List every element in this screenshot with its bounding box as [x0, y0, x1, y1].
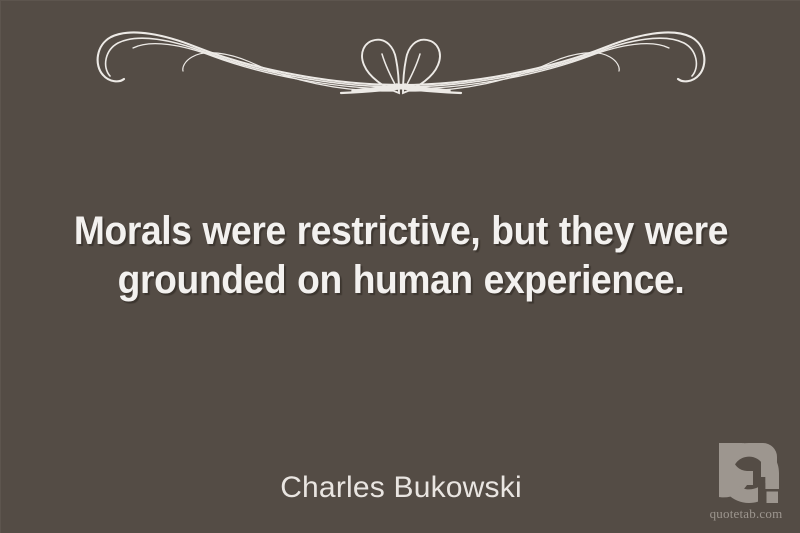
author-block: Charles Bukowski [1, 469, 800, 507]
site-logo[interactable]: quotetab.com [704, 443, 788, 525]
quote-card: Morals were restrictive, but they were g… [0, 0, 800, 533]
quote-block: Morals were restrictive, but they were g… [1, 207, 800, 305]
decorative-flourish-icon [1, 9, 800, 99]
quote-text: Morals were restrictive, but they were g… [61, 207, 742, 305]
quotetab-q-icon [719, 443, 781, 503]
logo-wordmark: quotetab.com [704, 506, 788, 522]
author-name: Charles Bukowski [1, 469, 800, 507]
